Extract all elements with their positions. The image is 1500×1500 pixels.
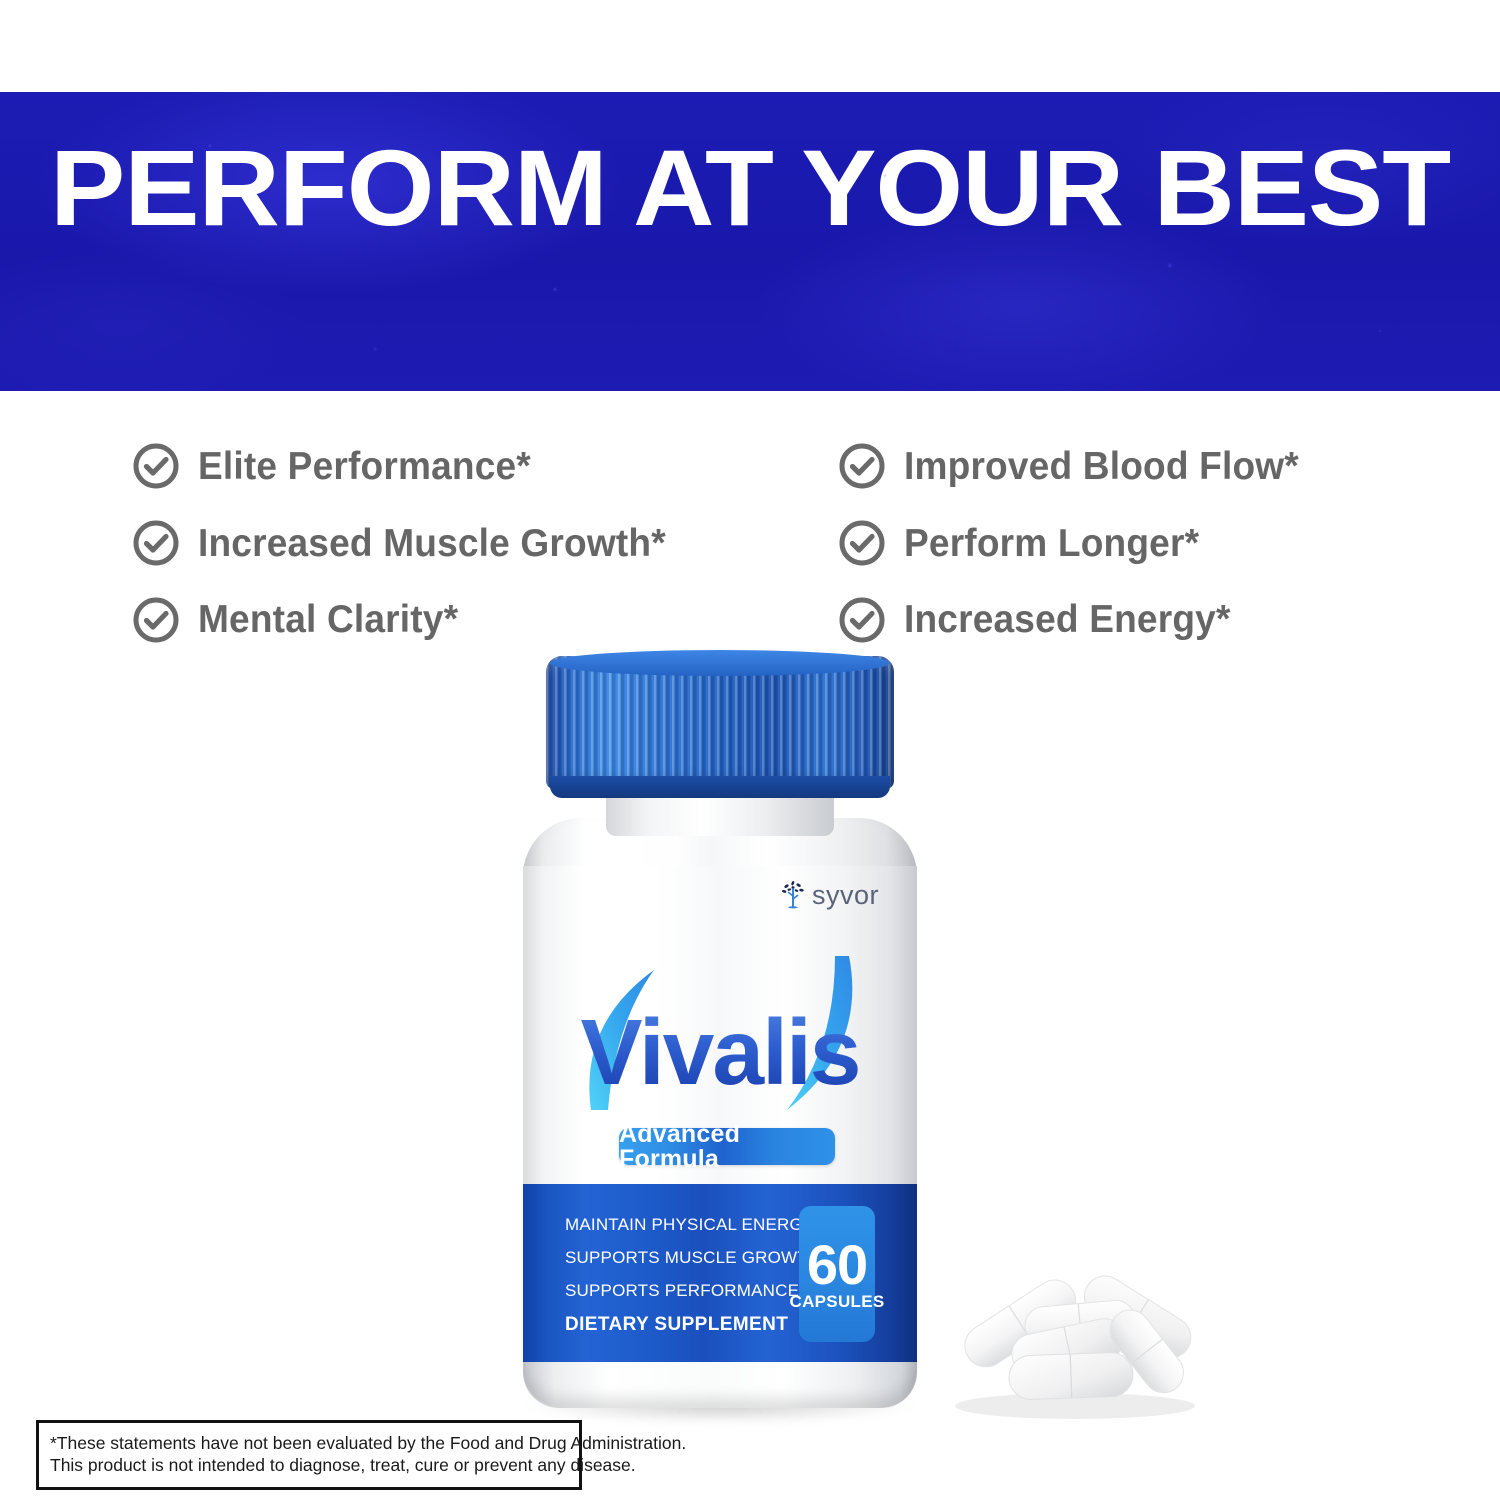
white-capsules-icon [925, 1238, 1215, 1423]
label-upper-section: syvor [523, 866, 917, 1162]
claim-item: SUPPORTS PERFORMANCE* [565, 1282, 827, 1299]
brand-area: Vivalis [523, 920, 917, 1150]
claim-item: SUPPORTS MUSCLE GROWTH* [565, 1249, 827, 1266]
advanced-formula-badge: Advanced Formula [619, 1128, 835, 1165]
benefit-item: Elite Performance* [132, 428, 720, 505]
badge-label: Advanced Formula [619, 1122, 835, 1172]
brand-name: Vivalis [523, 1006, 917, 1099]
circle-check-icon [838, 442, 886, 490]
circle-check-icon [132, 596, 180, 644]
disclaimer-line-2: This product is not intended to diagnose… [50, 1454, 568, 1476]
headline-text: PERFORM AT YOUR BEST [50, 134, 1450, 242]
label-blue-panel: MAINTAIN PHYSICAL ENERGY* SUPPORTS MUSCL… [523, 1184, 917, 1366]
claim-item: MAINTAIN PHYSICAL ENERGY* [565, 1216, 827, 1233]
tree-icon [780, 880, 806, 910]
disclaimer-line-1: *These statements have not been evaluate… [50, 1432, 568, 1454]
circle-check-icon [132, 519, 180, 567]
company-logo: syvor [780, 880, 879, 910]
fda-disclaimer: *These statements have not been evaluate… [36, 1420, 582, 1490]
benefit-label: Perform Longer* [904, 524, 1199, 563]
product-bottle: syvor [510, 648, 930, 1418]
benefit-label: Improved Blood Flow* [904, 447, 1299, 486]
circle-check-icon [838, 519, 886, 567]
benefit-item: Perform Longer* [838, 505, 1380, 582]
capsule-count-number: 60 [807, 1238, 867, 1291]
product-marketing-image: PERFORM AT YOUR BEST Elite Performance* … [0, 0, 1500, 1500]
page-title: PERFORM AT YOUR BEST [50, 188, 1450, 296]
header-banner: PERFORM AT YOUR BEST [0, 92, 1500, 391]
bottle-cap-lip [550, 776, 890, 798]
benefits-column-left: Elite Performance* Increased Muscle Grow… [0, 428, 720, 658]
benefit-item: Increased Energy* [838, 581, 1380, 658]
benefit-item: Mental Clarity* [132, 581, 720, 658]
company-name: syvor [812, 882, 879, 909]
benefits-column-right: Improved Blood Flow* Perform Longer* Inc… [720, 428, 1380, 658]
circle-check-icon [838, 596, 886, 644]
benefit-label: Increased Muscle Growth* [198, 524, 666, 563]
benefit-label: Increased Energy* [904, 600, 1231, 639]
bottle-base [523, 1362, 917, 1408]
benefits-section: Elite Performance* Increased Muscle Grow… [0, 428, 1500, 658]
benefit-label: Elite Performance* [198, 447, 531, 486]
bottle-cap-top [550, 650, 890, 676]
supplement-type-label: DIETARY SUPPLEMENT [565, 1315, 827, 1334]
benefit-item: Improved Blood Flow* [838, 428, 1380, 505]
capsule-count-unit: CAPSULES [790, 1293, 885, 1310]
claims-list: MAINTAIN PHYSICAL ENERGY* SUPPORTS MUSCL… [565, 1216, 827, 1334]
bottle-label: syvor [523, 866, 917, 1366]
capsule-count-box: 60 CAPSULES [799, 1206, 875, 1342]
capsules-pile [925, 1238, 1215, 1423]
benefit-item: Increased Muscle Growth* [132, 505, 720, 582]
circle-check-icon [132, 442, 180, 490]
benefit-label: Mental Clarity* [198, 600, 458, 639]
